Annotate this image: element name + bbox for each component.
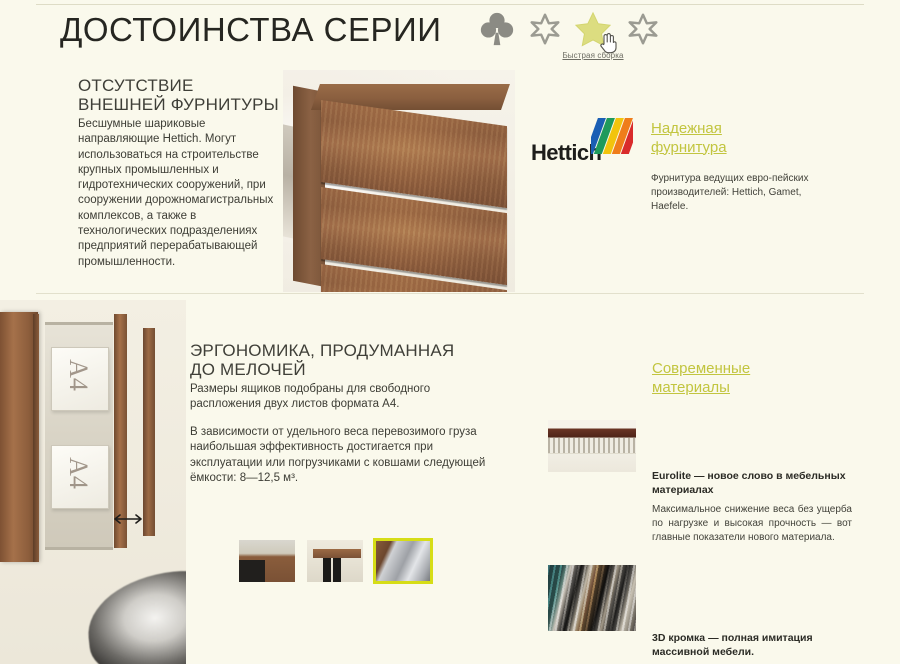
link-sovremennye-materialy[interactable]: Современные материалы [652,360,832,397]
hettich-logo: Hettich [531,118,636,166]
section1-heading: ОТСУТСТВИЕ ВНЕШНЕЙ ФУРНИТУРЫ [78,76,293,114]
section1-right-body: Фурнитура ведущих евро-пейских производи… [651,172,831,214]
hettich-logo-bars [591,118,633,154]
page-root: ДОСТОИНСТВА СЕРИИ [0,0,900,664]
section-divider [36,293,864,294]
section2-heading: ЭРГОНОМИКА, ПРОДУМАННАЯ ДО МЕЛОЧЕЙ [190,341,520,379]
material-lead: Eurolite — новое слово в мебельных матер… [652,469,852,497]
page-title: ДОСТОИНСТВА СЕРИИ [60,8,441,52]
badge-tooltip: Быстрая сборка [538,51,648,60]
dimension-arrow-icon [113,512,143,526]
material-block-3d-edge: 3D кромка — полная имитация массивной ме… [652,565,852,664]
section2-paragraph-1: Размеры ящиков подобраны для свободного … [190,382,500,413]
drawer-cabinet-photo [283,70,515,292]
cabinet-door-edge [33,314,39,562]
open-drawer-photo: A4 A4 [0,300,186,664]
a4-paper-label: A4 [63,457,93,489]
section1-body: Бесшумные шариковые направляющие Hettich… [78,117,283,270]
clover-icon[interactable] [478,10,516,48]
material-block-eurolite: Eurolite — новое слово в мебельных матер… [652,417,852,545]
thumbnail-office-desk[interactable] [239,540,295,582]
thumbnail-gallery [239,540,431,582]
link-nadezhnaya-furnitura[interactable]: Надежная фурнитура [651,120,836,157]
badge-row: Быстрая сборка [478,10,678,62]
material-lead: 3D кромка — полная имитация массивной ме… [652,631,852,659]
drawer-outer-rail [143,328,155,536]
thumbnail-metal-edge[interactable] [375,540,431,582]
flower-outline-icon[interactable] [624,10,662,48]
section2-paragraph-2: В зависимости от удельного веса перевози… [190,425,498,486]
section2-right-column: Современные материалы Eurolite — новое с… [652,360,852,664]
drawer-interior: A4 A4 [45,322,113,550]
a4-paper: A4 [51,445,109,509]
material-body: Максимальное снижение веса без ущерба по… [652,503,852,545]
top-divider [36,4,864,5]
thumbnail-table-leg[interactable] [307,540,363,582]
page-header: ДОСТОИНСТВА СЕРИИ [60,8,441,58]
flower-outline-icon[interactable] [526,10,564,48]
a4-paper: A4 [51,347,109,411]
eurolite-honeycomb-panel-image [548,420,636,472]
a4-paper-label: A4 [63,359,93,391]
edge-banding-rolls-image [548,565,636,631]
